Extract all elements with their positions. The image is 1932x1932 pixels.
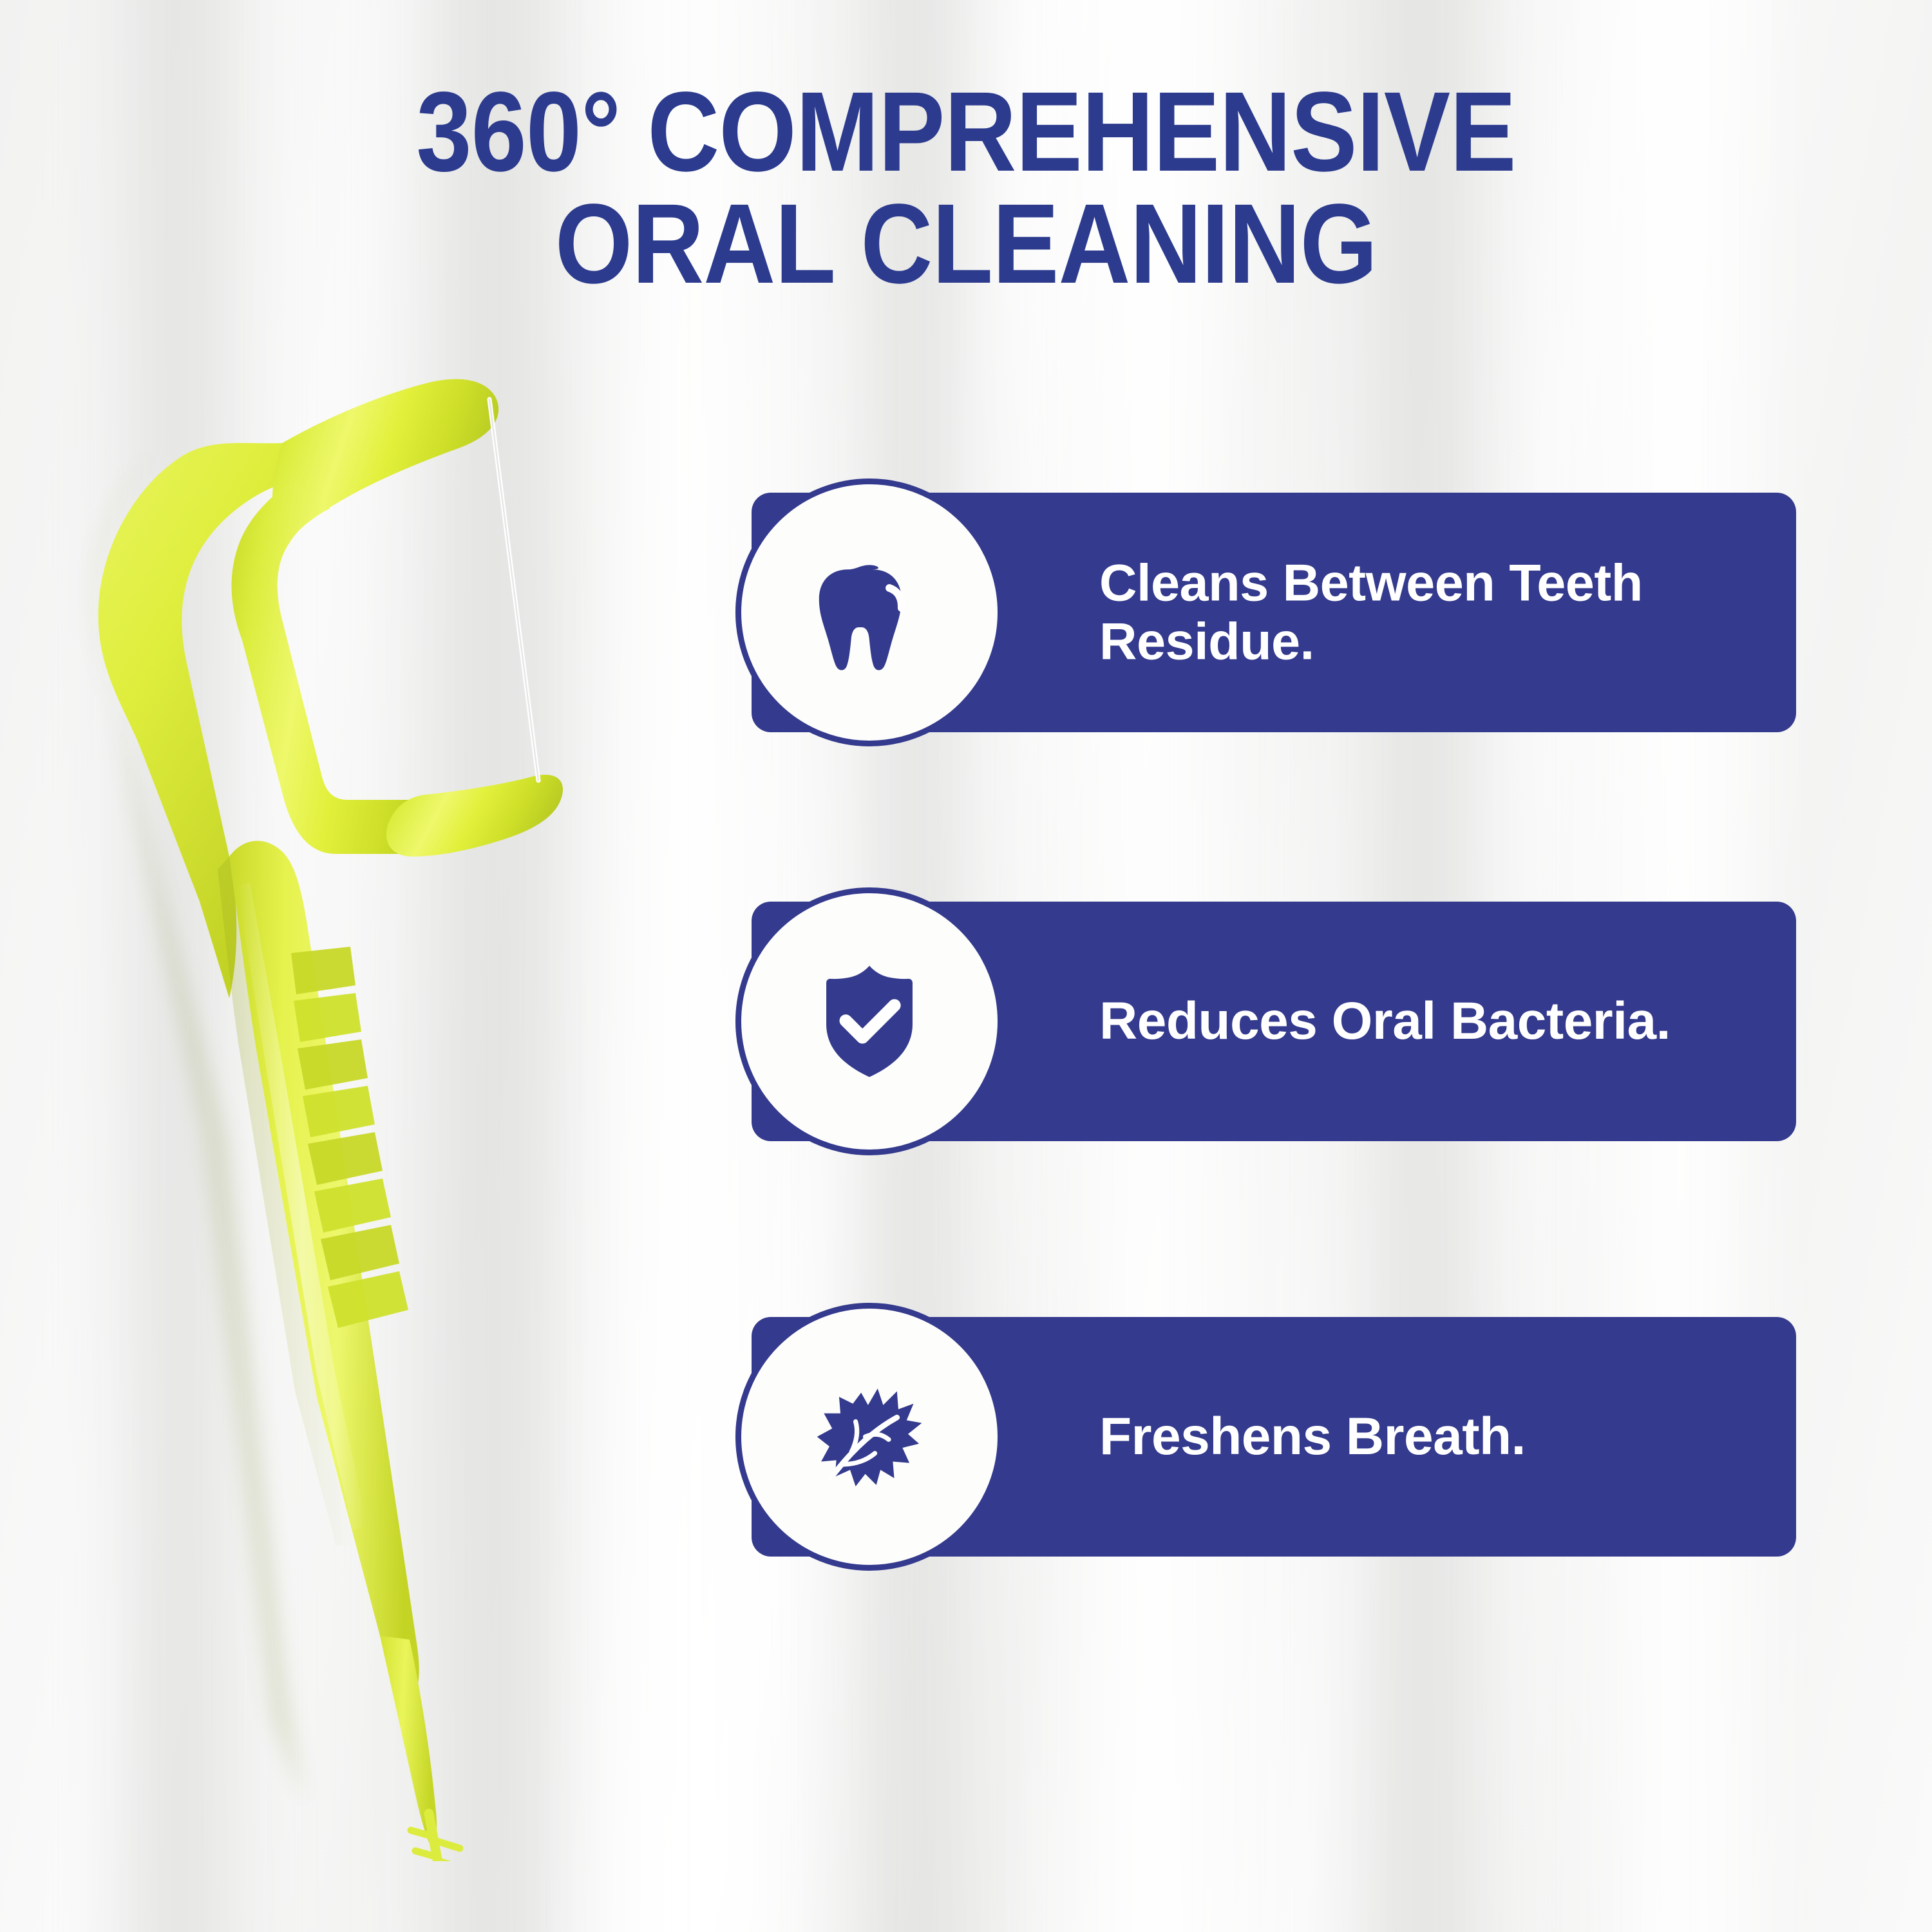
product-image-floss-pick [77,303,605,1861]
page-title: 360° COMPREHENSIVE ORAL CLEANING [116,76,1816,300]
shield-check-icon [800,952,939,1091]
floss-strand-shade [489,399,538,781]
feature-icon-badge-1 [735,478,1003,746]
page-title-line-1: 360° COMPREHENSIVE [416,69,1515,195]
feature-card-1-line-2: Residue. [1099,612,1314,670]
feature-card-2-line-1: Reduces Oral Bacteria. [1099,992,1671,1050]
feature-card-1-line-1: Cleans Between Teeth [1099,554,1643,612]
feature-card-1-text: Cleans Between Teeth Residue. [1099,554,1751,670]
feature-card-3-line-1: Freshens Breath. [1099,1407,1526,1466]
fork-right-prong [386,775,563,857]
feature-card-3-text: Freshens Breath. [1099,1407,1751,1466]
infographic-canvas: 360° COMPREHENSIVE ORAL CLEANING [0,0,1932,1932]
feature-icon-badge-2 [735,887,1003,1155]
mint-leaf-icon [800,1368,938,1506]
tooth-icon [795,538,943,687]
page-title-line-2: ORAL CLEANING [116,188,1816,300]
feature-icon-badge-3 [735,1303,1003,1571]
feature-card-2-text: Reduces Oral Bacteria. [1099,992,1751,1051]
